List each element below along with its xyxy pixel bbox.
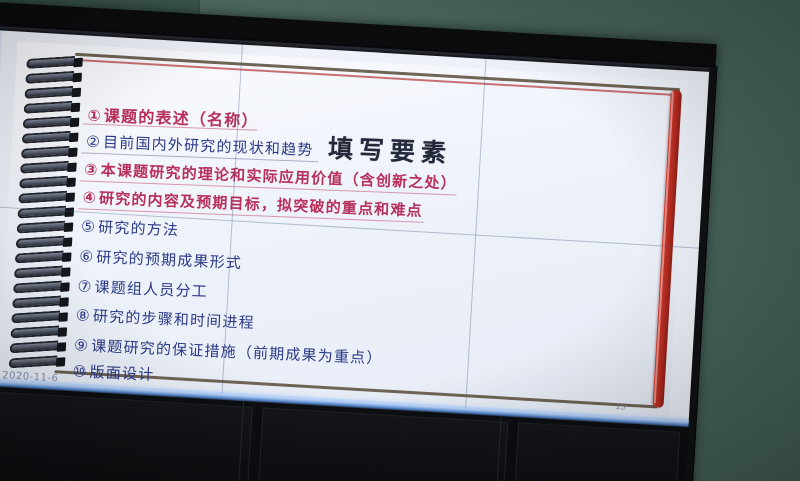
spiral-ring	[22, 131, 78, 141]
video-wall-display[interactable]: 填写要素 ①课题的表述（名称）②目前国内外研究的现状和趋势③本课题研究的理论和实…	[0, 2, 717, 481]
spiral-ring	[19, 176, 75, 186]
list-item-number: ②	[86, 133, 102, 152]
display-screen-surface[interactable]: 填写要素 ①课题的表述（名称）②目前国内外研究的现状和趋势③本课题研究的理论和实…	[0, 30, 709, 423]
spiral-ring	[12, 311, 68, 321]
lower-panel-1[interactable]	[0, 392, 253, 481]
spiral-ring	[26, 71, 82, 81]
spiral-ring	[12, 296, 68, 306]
spiral-ring	[16, 236, 72, 246]
spiral-ring	[25, 86, 81, 96]
list-item-text: 课题组人员分工	[94, 278, 208, 301]
lower-panel-2[interactable]	[257, 407, 508, 481]
photo-scene: 填写要素 ①课题的表述（名称）②目前国内外研究的现状和趋势③本课题研究的理论和实…	[0, 0, 800, 481]
list-item-number: ⑧	[75, 306, 91, 325]
spiral-ring	[9, 356, 65, 366]
list-item-number: ⑩	[72, 362, 88, 381]
spiral-ring	[19, 191, 75, 201]
list-item-text: 研究的预期成果形式	[96, 248, 242, 272]
spiral-ring	[11, 326, 67, 336]
list-item-text: 版面设计	[89, 363, 155, 384]
slide-list-item: ⑦课题组人员分工	[77, 275, 208, 301]
list-item-number: ⑤	[81, 217, 97, 236]
slide-list-item: ⑥研究的预期成果形式	[79, 245, 243, 273]
spiral-ring	[23, 116, 79, 126]
slide-list-item: ⑧研究的步骤和时间进程	[75, 304, 255, 333]
spiral-ring	[13, 281, 69, 291]
list-item-text: 研究的步骤和时间进程	[93, 307, 256, 332]
slide-list-item: ②目前国内外研究的现状和趋势	[86, 131, 314, 161]
list-item-number: ⑨	[74, 336, 90, 355]
spiral-ring	[17, 221, 73, 231]
spiral-ring	[20, 161, 76, 171]
handwritten-content: 填写要素 ①课题的表述（名称）②目前国内外研究的现状和趋势③本课题研究的理论和实…	[73, 64, 650, 396]
spiral-ring	[21, 146, 77, 156]
slide-title: 填写要素	[327, 129, 452, 170]
slide-list-item: ⑤研究的方法	[81, 215, 180, 240]
spiral-ring	[10, 341, 66, 351]
spiral-ring	[26, 56, 82, 66]
spiral-ring	[15, 251, 71, 261]
list-item-text: 研究的方法	[98, 218, 180, 239]
list-item-number: ⑦	[77, 277, 93, 296]
page-number: 15	[615, 401, 626, 412]
spiral-ring	[24, 101, 80, 111]
list-item-number: ⑥	[79, 247, 95, 266]
lower-panel-3[interactable]	[513, 422, 680, 481]
list-item-number: ①	[87, 107, 102, 126]
spiral-binding	[9, 56, 83, 371]
spiral-ring	[14, 266, 70, 276]
list-item-number: ③	[84, 161, 99, 180]
list-item-number: ④	[82, 189, 97, 208]
notebook-page: 填写要素 ①课题的表述（名称）②目前国内外研究的现状和趋势③本课题研究的理论和实…	[0, 41, 689, 416]
